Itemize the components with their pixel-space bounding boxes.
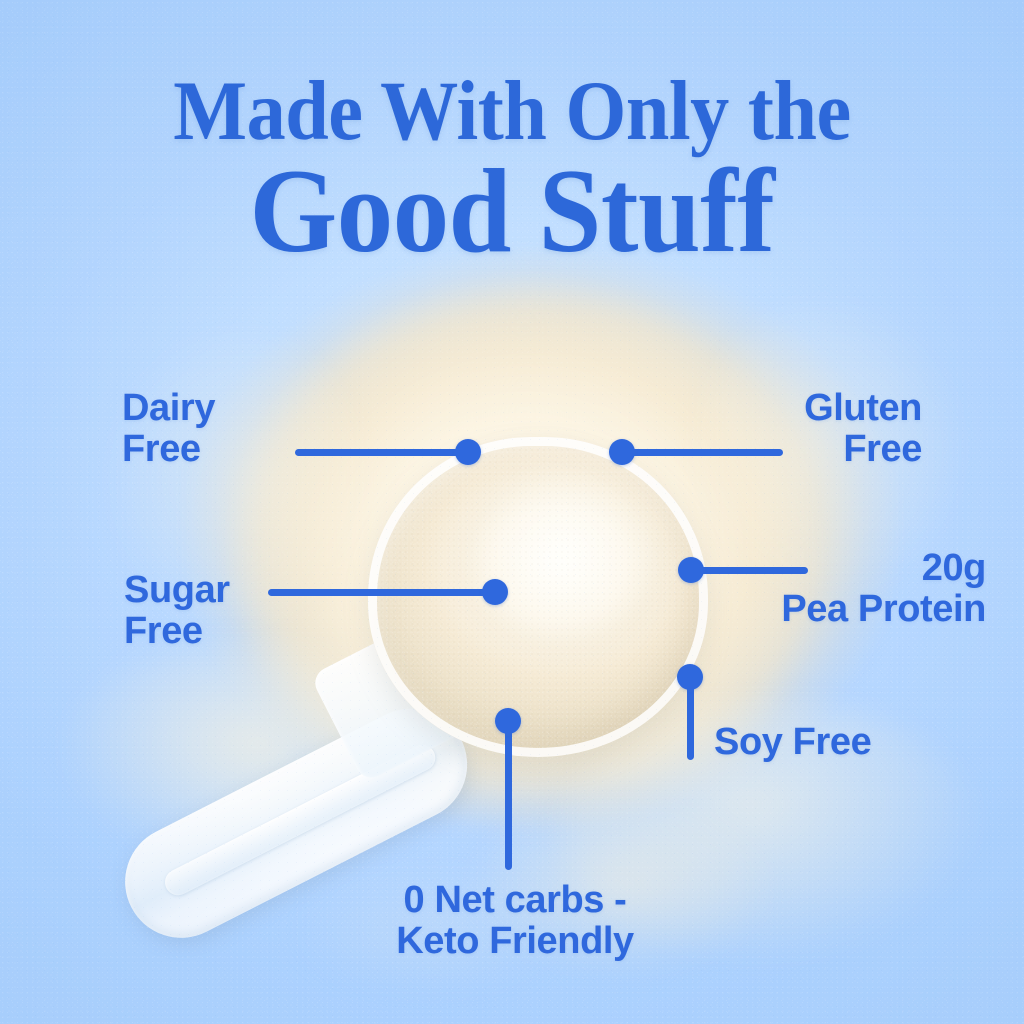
- callout-leader-line-pea-protein: [700, 567, 808, 574]
- callout-dot-dairy-free: [455, 439, 481, 465]
- callout-dot-pea-protein: [678, 557, 704, 583]
- callout-leader-line-dairy-free: [295, 449, 475, 456]
- callout-label-sugar-free: Sugar Free: [124, 570, 344, 652]
- callout-keto-line-1: 0 Net carbs -: [320, 880, 710, 921]
- callout-dot-gluten-free: [609, 439, 635, 465]
- callout-label-keto: 0 Net carbs - Keto Friendly: [320, 880, 710, 962]
- page-title: Made With Only the Good Stuff: [0, 72, 1024, 267]
- callout-leader-line-sugar-free: [268, 589, 488, 596]
- callout-label-dairy-free: Dairy Free: [122, 388, 342, 470]
- callout-keto-line-2: Keto Friendly: [320, 921, 710, 962]
- callout-dot-keto: [495, 708, 521, 734]
- product-benefits-poster: Made With Only the Good Stuff Dairy Free…: [0, 0, 1024, 1024]
- callout-gluten-free-line-1: Gluten: [682, 388, 922, 429]
- callout-leader-line-soy-free: [687, 684, 694, 760]
- callout-dot-soy-free: [677, 664, 703, 690]
- callout-dot-sugar-free: [482, 579, 508, 605]
- callout-pea-protein-line-2: Pea Protein: [668, 589, 986, 630]
- callout-soy-free-line-1: Soy Free: [714, 722, 934, 763]
- callout-dairy-free-line-1: Dairy: [122, 388, 342, 429]
- callout-leader-line-keto: [505, 730, 512, 870]
- callout-label-pea-protein: 20g Pea Protein: [668, 548, 986, 630]
- callout-sugar-free-line-2: Free: [124, 611, 344, 652]
- headline-line-1: Made With Only the: [41, 72, 983, 150]
- callout-leader-line-gluten-free: [628, 449, 783, 456]
- headline-line-2: Good Stuff: [31, 156, 994, 266]
- callout-label-soy-free: Soy Free: [714, 722, 934, 763]
- callout-label-gluten-free: Gluten Free: [682, 388, 922, 470]
